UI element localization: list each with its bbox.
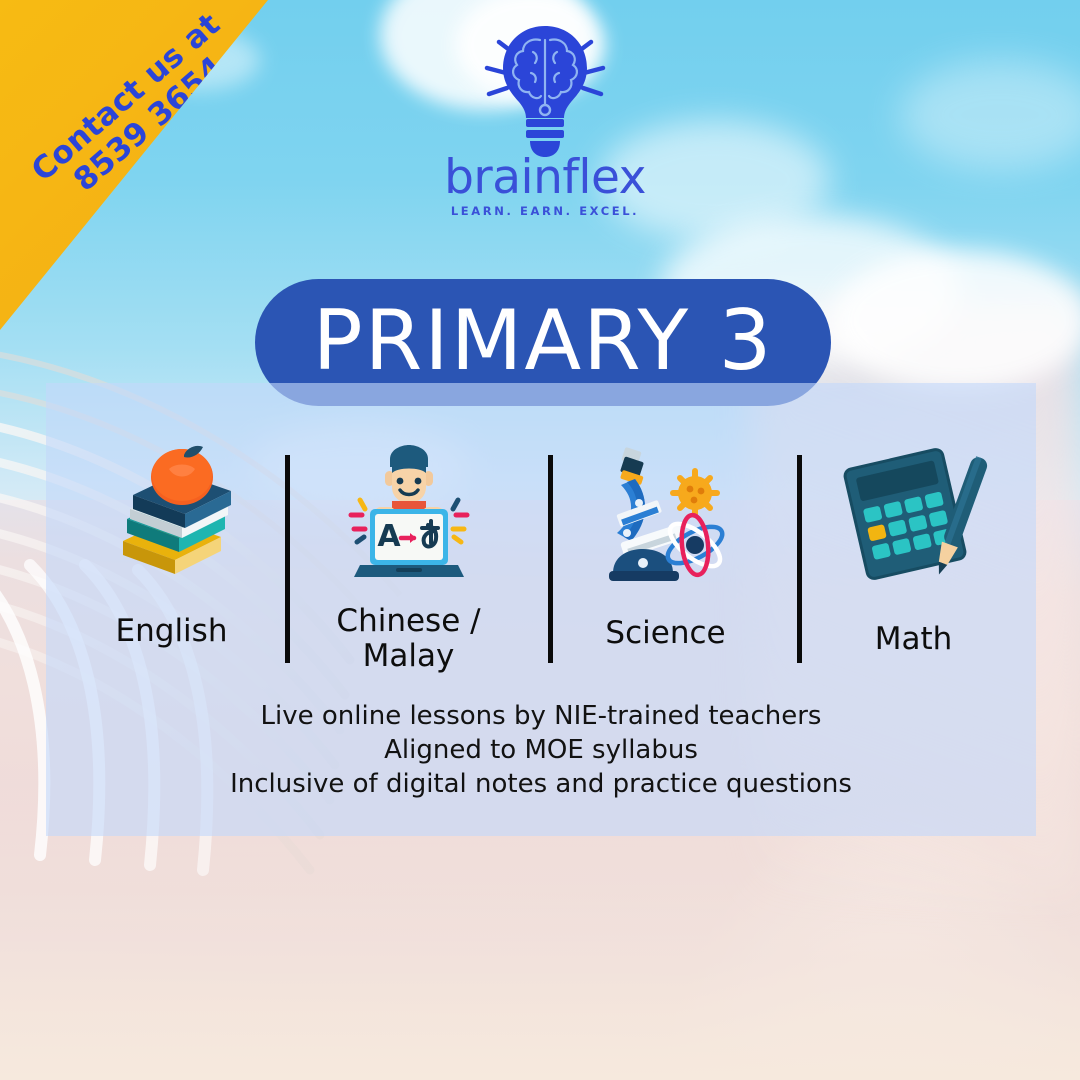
subject-divider xyxy=(285,455,290,663)
subject-item-chinese-malay[interactable]: A Chi xyxy=(301,440,516,675)
page-title: PRIMARY 3 xyxy=(313,299,774,382)
subject-divider xyxy=(797,455,802,663)
translation-laptop-icon: A xyxy=(334,440,484,590)
microscope-atom-icon xyxy=(591,440,741,590)
brand-wordmark: brainflex xyxy=(444,154,646,201)
subject-item-science[interactable]: Science xyxy=(558,440,773,675)
subject-divider xyxy=(548,455,553,663)
books-with-apple-icon xyxy=(99,440,244,590)
subject-label-chinese-malay: Chinese / Malay xyxy=(336,604,480,675)
feature-line-3: Inclusive of digital notes and practice … xyxy=(46,768,1036,802)
subject-label-line-2: Malay xyxy=(363,638,455,674)
subject-label-science: Science xyxy=(605,616,725,651)
subject-item-math[interactable]: Math xyxy=(806,440,1021,675)
feature-line-2: Aligned to MOE syllabus xyxy=(46,734,1036,768)
subject-label-math: Math xyxy=(875,622,953,657)
cloud-icon xyxy=(830,250,1080,390)
svg-text:A: A xyxy=(377,519,401,554)
poster-canvas: Contact us at 8539 3654 xyxy=(0,0,1080,1080)
subject-label-english: English xyxy=(116,614,228,649)
subject-label-line-1: Chinese / xyxy=(336,603,480,639)
subjects-row: English xyxy=(46,440,1036,675)
feature-list: Live online lessons by NIE-trained teach… xyxy=(46,700,1036,801)
subject-item-english[interactable]: English xyxy=(64,440,279,675)
calculator-pencil-icon xyxy=(839,440,989,590)
feature-line-1: Live online lessons by NIE-trained teach… xyxy=(46,700,1036,734)
brain-lightbulb-icon xyxy=(471,18,619,158)
brand-logo[interactable]: brainflex LEARN. EARN. EXCEL. xyxy=(420,18,670,218)
brand-tagline: LEARN. EARN. EXCEL. xyxy=(451,204,639,218)
